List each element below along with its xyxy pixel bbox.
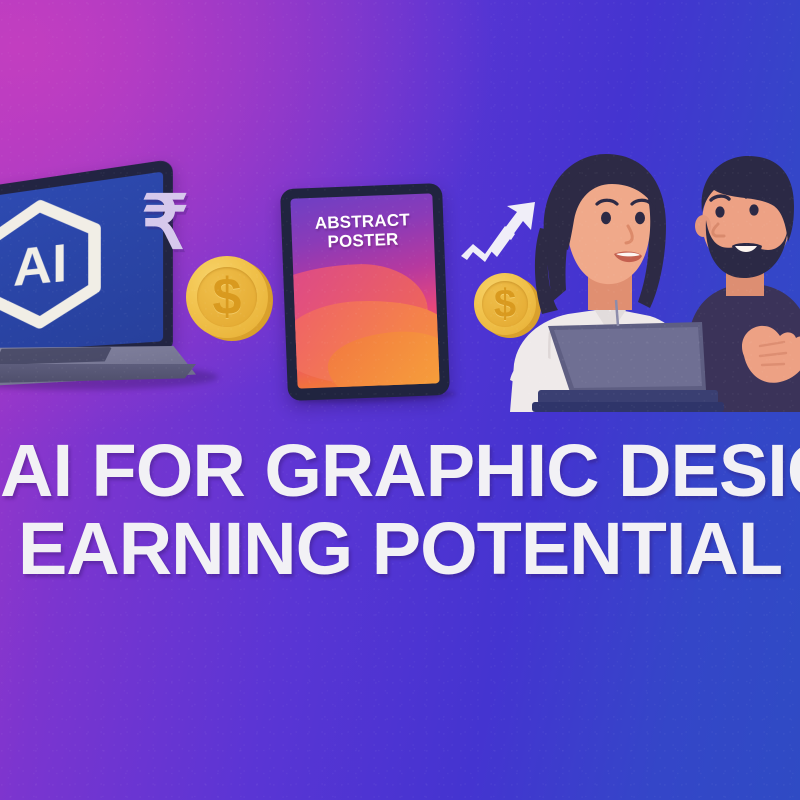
tablet-poster-illustration: ABSTRACT POSTER xyxy=(280,183,450,401)
svg-text:AI: AI xyxy=(12,232,66,297)
poster-title-line2: POSTER xyxy=(327,230,399,252)
tablet-frame: ABSTRACT POSTER xyxy=(280,183,450,401)
ai-hexagon-icon: AI xyxy=(0,186,111,342)
dollar-sign: $ xyxy=(213,271,242,323)
coin-inner: $ xyxy=(197,267,258,328)
rupee-icon: ₹ xyxy=(138,186,192,264)
thumbnail-canvas: AI ₹ $ ABSTRACT P xyxy=(0,0,800,800)
dollar-coin-icon: $ xyxy=(186,256,268,338)
headline-line-1: AI FOR GRAPHIC DESIGN xyxy=(0,429,800,512)
poster-artwork: ABSTRACT POSTER xyxy=(290,193,439,388)
coin-face: $ xyxy=(186,256,268,338)
poster-title: ABSTRACT POSTER xyxy=(291,209,434,252)
headline: AI FOR GRAPHIC DESIGN EARNING POTENTIAL xyxy=(0,432,800,588)
people-illustration xyxy=(492,150,800,412)
headline-line-2: EARNING POTENTIAL xyxy=(0,510,800,588)
